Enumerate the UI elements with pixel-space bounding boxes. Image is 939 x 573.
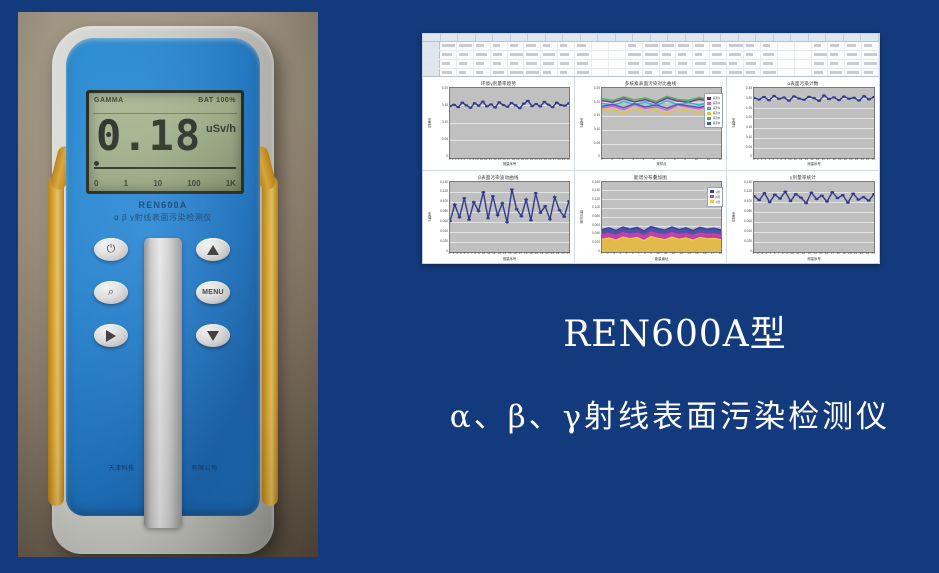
spreadsheet-cell[interactable] xyxy=(524,60,541,68)
chart-x-tick: 4 xyxy=(765,251,767,255)
chart-x-tick: 3 xyxy=(622,157,624,161)
chart-data-point xyxy=(802,99,806,101)
chart-x-tick: 13 xyxy=(807,251,810,255)
spreadsheet-col-header[interactable] xyxy=(546,34,564,41)
spreadsheet-cell[interactable] xyxy=(643,69,660,77)
chart-data-point xyxy=(450,220,452,222)
chart-data-point xyxy=(846,201,850,203)
spreadsheet-col-header[interactable] xyxy=(686,34,704,41)
spreadsheet-cell[interactable] xyxy=(575,42,592,50)
chart-data-point xyxy=(792,95,796,97)
chart-x-tick: 3 xyxy=(613,251,615,255)
spreadsheet-cell[interactable] xyxy=(592,69,609,77)
spreadsheet-cell[interactable] xyxy=(845,69,862,77)
spreadsheet-cell[interactable] xyxy=(710,51,727,59)
spreadsheet-cell[interactable] xyxy=(524,42,541,50)
spreadsheet-cell[interactable] xyxy=(761,51,778,59)
spreadsheet-cell[interactable] xyxy=(795,69,812,77)
spreadsheet-cell[interactable] xyxy=(524,69,541,77)
chart-data-point xyxy=(538,105,542,107)
chart-y-ticks: 0.250.200.150.100.050 xyxy=(585,87,601,159)
spreadsheet-cell[interactable] xyxy=(440,69,457,77)
spreadsheet-cell[interactable] xyxy=(660,42,677,50)
spreadsheet-cell[interactable] xyxy=(727,51,744,59)
spreadsheet-cell[interactable] xyxy=(575,69,592,77)
chart-y-tick: 0.080 xyxy=(592,215,600,218)
chart-x-tick: 18 xyxy=(833,157,836,161)
spreadsheet-cell[interactable] xyxy=(626,60,643,68)
spreadsheet-col-header[interactable] xyxy=(581,34,599,41)
spreadsheet-col-header[interactable] xyxy=(633,34,651,41)
spreadsheet-cell[interactable] xyxy=(778,60,795,68)
spreadsheet-col-header[interactable] xyxy=(511,34,529,41)
chart-x-tick: 24 xyxy=(866,157,869,161)
chart-x-ticks: 1234567891011121314151617181920212223242… xyxy=(449,157,570,161)
spreadsheet-cell[interactable] xyxy=(626,69,643,77)
chart-data-point xyxy=(548,218,552,220)
chart-x-tick: 9 xyxy=(684,157,686,161)
spreadsheet-row-header[interactable] xyxy=(423,69,440,77)
chart-y-tick: 0 xyxy=(446,155,448,158)
spreadsheet-row[interactable] xyxy=(423,51,879,60)
chart-legend-item[interactable]: β谱 xyxy=(710,195,720,199)
chart-data-point xyxy=(787,100,791,102)
chart-y-axis-label: 计数率 xyxy=(579,118,585,128)
spreadsheet-col-header[interactable] xyxy=(668,34,686,41)
spreadsheet-cell[interactable] xyxy=(845,51,862,59)
spreadsheet-cell[interactable] xyxy=(609,60,626,68)
chart-y-tick: 0.020 xyxy=(440,240,448,243)
chart-data-point xyxy=(519,215,523,217)
spreadsheet-cell[interactable] xyxy=(693,60,710,68)
chart-data-point xyxy=(827,98,831,100)
spreadsheet-cell[interactable] xyxy=(828,42,845,50)
chart-x-tick: 7 xyxy=(663,157,665,161)
spreadsheet-column-headers xyxy=(423,34,879,42)
chart-series-svg xyxy=(754,182,874,253)
spreadsheet-col-header[interactable] xyxy=(861,34,879,41)
spreadsheet-cell[interactable] xyxy=(693,42,710,50)
chart-data-point xyxy=(496,214,500,216)
spreadsheet-cell[interactable] xyxy=(457,69,474,77)
chart-data-point xyxy=(481,190,485,192)
spreadsheet-cell[interactable] xyxy=(778,51,795,59)
spreadsheet-cell[interactable] xyxy=(710,42,727,50)
spreadsheet-col-header[interactable] xyxy=(616,34,634,41)
spreadsheet-row-header[interactable] xyxy=(423,42,440,50)
chart-y-tick: 0.25 xyxy=(746,107,752,110)
spreadsheet-cell[interactable] xyxy=(795,60,812,68)
spreadsheet-col-header[interactable] xyxy=(739,34,757,41)
chart-x-tick: 15 xyxy=(819,251,822,255)
chart-data-point xyxy=(485,105,489,107)
chart-data-point xyxy=(777,98,781,100)
spreadsheet-col-header[interactable] xyxy=(809,34,827,41)
spreadsheet-cell[interactable] xyxy=(558,51,575,59)
chart-x-tick: 12 xyxy=(672,251,675,255)
chart-legend-swatch xyxy=(707,107,711,110)
chart-legend-item[interactable]: 系列4 xyxy=(707,111,720,115)
spreadsheet-cell[interactable] xyxy=(727,69,744,77)
spreadsheet-row-header[interactable] xyxy=(423,60,440,68)
spreadsheet-cell[interactable] xyxy=(609,69,626,77)
spreadsheet-cell[interactable] xyxy=(474,42,491,50)
chart-x-tick: 22 xyxy=(530,157,533,161)
chart-y-tick: 0.20 xyxy=(594,101,600,104)
chart-x-ticks: 1234567891011121314151617181920212223242… xyxy=(449,251,570,255)
spreadsheet-cell[interactable] xyxy=(440,42,457,50)
spreadsheet-cell[interactable] xyxy=(609,51,626,59)
spreadsheet-cell[interactable] xyxy=(508,60,525,68)
spreadsheet-cell[interactable] xyxy=(626,42,643,50)
chart-data-point xyxy=(836,196,840,198)
chart-data-point xyxy=(472,201,476,203)
spreadsheet-cell[interactable] xyxy=(524,51,541,59)
chart-data-point xyxy=(551,106,555,108)
spreadsheet-cell[interactable] xyxy=(440,51,457,59)
chart-x-tick: 2 xyxy=(611,157,613,161)
spreadsheet-cell[interactable] xyxy=(491,69,508,77)
chart-x-tick: 30 xyxy=(567,157,570,161)
chart-x-tick: 2 xyxy=(607,251,609,255)
spreadsheet-cell[interactable] xyxy=(541,42,558,50)
chart-data-point xyxy=(768,201,772,203)
spreadsheet-cell[interactable] xyxy=(457,42,474,50)
spreadsheet-cell[interactable] xyxy=(727,60,744,68)
chart-x-tick: 3 xyxy=(761,251,763,255)
chart-x-tick: 15 xyxy=(816,157,819,161)
product-photo: GAMMA BAT 100% 0.18 uSv/h 0 1 10 100 1K xyxy=(18,12,318,557)
spreadsheet-cell[interactable] xyxy=(761,69,778,77)
spreadsheet-cell[interactable] xyxy=(744,60,761,68)
chart-x-ticks: 123456789101112 xyxy=(601,157,722,161)
spreadsheet-cell[interactable] xyxy=(558,42,575,50)
chart-x-tick: 7 xyxy=(471,251,473,255)
chart-data-point xyxy=(822,94,826,96)
chart-plot xyxy=(753,87,875,159)
chart-x-tick: 19 xyxy=(529,251,532,255)
spreadsheet-cell[interactable] xyxy=(541,51,558,59)
spreadsheet-cell[interactable] xyxy=(457,60,474,68)
chart-data-point xyxy=(453,203,457,205)
spreadsheet-col-header[interactable] xyxy=(721,34,739,41)
spreadsheet-cell[interactable] xyxy=(710,69,727,77)
chart-x-tick: 13 xyxy=(497,251,500,255)
spreadsheet-col-header[interactable] xyxy=(423,34,441,41)
spreadsheet-cell[interactable] xyxy=(812,60,829,68)
chart-data-point xyxy=(767,99,771,101)
chart-x-tick: 4 xyxy=(619,251,621,255)
chart-x-tick: 8 xyxy=(674,157,676,161)
chart-x-tick: 1 xyxy=(601,251,603,255)
spreadsheet-row[interactable] xyxy=(423,69,879,77)
chart-y-tick: 0.15 xyxy=(442,104,448,107)
chart-y-tick: 0.15 xyxy=(746,126,752,129)
spreadsheet-cell[interactable] xyxy=(693,69,710,77)
chart-x-tick: 1 xyxy=(753,157,755,161)
chart-legend-swatch xyxy=(707,122,711,125)
chart-x-tick: 2 xyxy=(757,157,759,161)
chart-data-point xyxy=(473,102,477,104)
chart-legend-item[interactable]: α谱 xyxy=(710,200,720,204)
spreadsheet-col-header[interactable] xyxy=(458,34,476,41)
spreadsheet-cell[interactable] xyxy=(676,69,693,77)
chart-x-tick: 12 xyxy=(802,251,805,255)
spreadsheet-cell[interactable] xyxy=(795,51,812,59)
chart-x-tick: 10 xyxy=(482,251,485,255)
spreadsheet-cell[interactable] xyxy=(626,51,643,59)
chart-y-tick: 0.080 xyxy=(440,210,448,213)
chart-y-tick: 0.020 xyxy=(744,240,752,243)
chart-y-tick: 0.100 xyxy=(440,200,448,203)
chart-legend-label: 系列4 xyxy=(713,111,720,115)
spreadsheet-col-header[interactable] xyxy=(651,34,669,41)
chart-y-axis-label: 剂量率 xyxy=(731,212,737,222)
chart-y-tick: 0.060 xyxy=(744,220,752,223)
chart-x-tick: 7 xyxy=(776,157,778,161)
chart-data-point xyxy=(773,193,777,195)
spreadsheet-cell[interactable] xyxy=(592,42,609,50)
chart-y-tick: 0.120 xyxy=(440,190,448,193)
spreadsheet-cell[interactable] xyxy=(508,69,525,77)
spreadsheet-cell[interactable] xyxy=(744,51,761,59)
spreadsheet-cell[interactable] xyxy=(575,60,592,68)
chart-y-tick: 0.060 xyxy=(592,224,600,227)
chart-x-axis: 123456789101112采样点 xyxy=(601,157,722,166)
spreadsheet-row[interactable] xyxy=(423,60,879,69)
spreadsheet-cell[interactable] xyxy=(761,60,778,68)
spreadsheet-col-header[interactable] xyxy=(563,34,581,41)
spreadsheet-cell[interactable] xyxy=(862,69,879,77)
spreadsheet-cell[interactable] xyxy=(812,42,829,50)
chart-x-tick: 18 xyxy=(512,157,515,161)
chart-y-tick: 0.10 xyxy=(746,136,752,139)
chart-legend: 系列1系列2系列3系列4系列5系列6 xyxy=(704,93,723,128)
chart-data-point xyxy=(847,98,851,100)
chart-y-tick: 0.040 xyxy=(592,232,600,235)
spreadsheet-col-header[interactable] xyxy=(476,34,494,41)
chart-plot-area: 剂量率0.200.150.100.050 xyxy=(427,87,570,159)
chart-legend-item[interactable]: 系列2 xyxy=(707,101,720,105)
spreadsheet-cell[interactable] xyxy=(778,69,795,77)
chart-plot xyxy=(449,181,570,254)
chart-plot xyxy=(449,87,570,159)
chart-x-tick: 6 xyxy=(653,157,655,161)
spreadsheet-cell[interactable] xyxy=(676,60,693,68)
spreadsheet-col-header[interactable] xyxy=(844,34,862,41)
chart-data-point xyxy=(510,188,514,190)
chart-line xyxy=(602,105,721,111)
spreadsheet-cell[interactable] xyxy=(491,60,508,68)
spreadsheet-cell[interactable] xyxy=(643,51,660,59)
spreadsheet-cell[interactable] xyxy=(491,42,508,50)
chart-y-tick: 0.020 xyxy=(592,241,600,244)
spreadsheet-col-header[interactable] xyxy=(598,34,616,41)
chart-x-tick: 24 xyxy=(556,251,559,255)
chart-data-point xyxy=(757,98,761,100)
chart-x-tick: 21 xyxy=(525,157,528,161)
spreadsheet-cell[interactable] xyxy=(862,51,879,59)
chart-data-point xyxy=(862,95,866,97)
chart-x-tick: 7 xyxy=(778,251,780,255)
spreadsheet-col-header[interactable] xyxy=(756,34,774,41)
spreadsheet-col-header[interactable] xyxy=(493,34,511,41)
chart-x-tick: 25 xyxy=(544,157,547,161)
chart-title: 环境γ剂量率趋势 xyxy=(427,80,570,87)
chart-x-tick: 15 xyxy=(508,251,511,255)
chart-legend-swatch xyxy=(707,97,711,100)
chart-x-tick: 2 xyxy=(757,251,759,255)
spreadsheet-cell[interactable] xyxy=(558,69,575,77)
spreadsheet-cell[interactable] xyxy=(508,51,525,59)
chart-cell: β表面污染波动曲线计数率0.1400.1200.1000.0800.0600.0… xyxy=(423,171,575,265)
spreadsheet-cell[interactable] xyxy=(676,51,693,59)
spreadsheet-cell[interactable] xyxy=(828,51,845,59)
spreadsheet-cell[interactable] xyxy=(575,51,592,59)
spreadsheet-cell[interactable] xyxy=(795,42,812,50)
chart-legend-item[interactable]: 系列1 xyxy=(707,96,720,100)
spreadsheet-col-header[interactable] xyxy=(441,34,459,41)
spreadsheet-cell[interactable] xyxy=(643,60,660,68)
spreadsheet-col-header[interactable] xyxy=(791,34,809,41)
chart-legend-swatch xyxy=(710,190,714,193)
spreadsheet-cell[interactable] xyxy=(440,60,457,68)
spreadsheet-cell[interactable] xyxy=(845,42,862,50)
chart-title: γ剂量率统计 xyxy=(731,174,875,181)
chart-data-point xyxy=(489,103,493,105)
spreadsheet-cell[interactable] xyxy=(592,51,609,59)
chart-cell: α表面污染计数计数率0.350.300.250.200.150.100.0501… xyxy=(727,77,879,171)
chart-y-tick: 0.35 xyxy=(746,87,752,90)
chart-data-point xyxy=(515,208,519,210)
chart-data-point xyxy=(809,191,813,193)
chart-data-point xyxy=(567,200,569,202)
spreadsheet-cell[interactable] xyxy=(660,60,677,68)
spreadsheet-cell[interactable] xyxy=(744,69,761,77)
chart-data-point xyxy=(812,97,816,99)
chart-data-point xyxy=(460,101,464,103)
spreadsheet-cell[interactable] xyxy=(457,51,474,59)
spreadsheet-cell[interactable] xyxy=(710,60,727,68)
spreadsheet-cell[interactable] xyxy=(474,51,491,59)
chart-data-point xyxy=(841,193,845,195)
spreadsheet-rows xyxy=(423,42,879,77)
chart-legend-label: γ谱 xyxy=(716,190,720,194)
chart-x-tick: 16 xyxy=(821,157,824,161)
chart-y-tick: 0.20 xyxy=(746,116,752,119)
spreadsheet-cell[interactable] xyxy=(693,51,710,59)
chart-series-svg xyxy=(450,88,569,158)
spreadsheet-cell[interactable] xyxy=(491,51,508,59)
chart-y-tick: 0.140 xyxy=(592,189,600,192)
chart-x-tick: 11 xyxy=(794,157,797,161)
chart-grid: 环境γ剂量率趋势剂量率0.200.150.100.050123456789101… xyxy=(423,77,879,264)
chart-x-tick: 11 xyxy=(664,251,667,255)
spreadsheet-col-header[interactable] xyxy=(774,34,792,41)
chart-plot-area: 剂量率0.1400.1200.1000.0800.0600.0400.0200 xyxy=(731,181,875,254)
spreadsheet-cell[interactable] xyxy=(676,42,693,50)
chart-x-tick: 10 xyxy=(656,251,659,255)
chart-x-tick: 16 xyxy=(513,251,516,255)
chart-x-axis-label: 测量序号 xyxy=(449,256,570,261)
spreadsheet-cell[interactable] xyxy=(761,42,778,50)
spreadsheet-cell[interactable] xyxy=(862,42,879,50)
spreadsheet-cell[interactable] xyxy=(812,51,829,59)
spreadsheet-cell[interactable] xyxy=(643,42,660,50)
chart-legend-label: α谱 xyxy=(716,200,720,204)
spreadsheet-cell[interactable] xyxy=(828,60,845,68)
spreadsheet-cell[interactable] xyxy=(845,60,862,68)
spreadsheet-cell[interactable] xyxy=(862,60,879,68)
spreadsheet-cell[interactable] xyxy=(812,69,829,77)
spreadsheet-cell[interactable] xyxy=(474,69,491,77)
spreadsheet-row-header[interactable] xyxy=(423,51,440,59)
chart-x-tick: 23 xyxy=(534,157,537,161)
chart-legend-item[interactable]: γ谱 xyxy=(710,190,720,194)
chart-data-point xyxy=(518,107,522,109)
chart-x-tick: 3 xyxy=(455,157,457,161)
chart-x-tick: 17 xyxy=(507,157,510,161)
chart-data-point xyxy=(852,97,856,99)
chart-x-tick: 13 xyxy=(805,157,808,161)
chart-data-point xyxy=(782,96,786,98)
spreadsheet-cell[interactable] xyxy=(541,69,558,77)
chart-legend-item[interactable]: 系列5 xyxy=(707,116,720,120)
chart-data-point xyxy=(481,100,485,102)
chart-x-tick: 5 xyxy=(770,251,772,255)
chart-data-point xyxy=(842,95,846,97)
chart-x-tick: 5 xyxy=(643,157,645,161)
spreadsheet-cell[interactable] xyxy=(558,60,575,68)
spreadsheet-row[interactable] xyxy=(423,42,879,51)
spreadsheet-cell[interactable] xyxy=(744,42,761,50)
chart-x-tick: 4 xyxy=(460,251,462,255)
chart-x-tick: 23 xyxy=(866,251,869,255)
spreadsheet-cell[interactable] xyxy=(778,42,795,50)
spreadsheet-col-header[interactable] xyxy=(528,34,546,41)
spreadsheet-cell[interactable] xyxy=(609,42,626,50)
chart-x-tick: 3 xyxy=(456,251,458,255)
chart-cell: γ剂量率统计剂量率0.1400.1200.1000.0800.0600.0400… xyxy=(727,171,879,265)
chart-title: β表面污染波动曲线 xyxy=(427,174,570,181)
spreadsheet-cell[interactable] xyxy=(474,60,491,68)
spreadsheet-cell[interactable] xyxy=(508,42,525,50)
chart-data-point xyxy=(529,219,533,221)
chart-y-axis: 计数率0.1400.1200.1000.0800.0600.0400.0200 xyxy=(427,181,449,254)
spreadsheet-col-header[interactable] xyxy=(704,34,722,41)
spreadsheet-cell[interactable] xyxy=(541,60,558,68)
spreadsheet-col-header[interactable] xyxy=(826,34,844,41)
chart-data-point xyxy=(763,191,767,193)
chart-data-point xyxy=(851,192,855,194)
spreadsheet-cell[interactable] xyxy=(727,42,744,50)
chart-title: 多核素表面污染对比曲线 xyxy=(579,80,722,87)
spreadsheet-cell[interactable] xyxy=(660,51,677,59)
spreadsheet-cell[interactable] xyxy=(660,69,677,77)
chart-data-point xyxy=(772,95,776,97)
spreadsheet-cell[interactable] xyxy=(592,60,609,68)
chart-x-tick: 14 xyxy=(813,251,816,255)
chart-data-point xyxy=(555,101,559,103)
chart-legend-item[interactable]: 系列3 xyxy=(707,106,720,110)
chart-line xyxy=(754,191,874,203)
spreadsheet-cell[interactable] xyxy=(828,69,845,77)
chart-legend-item[interactable]: 系列6 xyxy=(707,121,720,125)
chart-x-tick: 22 xyxy=(855,157,858,161)
chart-legend-label: 系列1 xyxy=(713,96,720,100)
chart-data-point xyxy=(830,190,834,192)
chart-x-tick: 8 xyxy=(474,251,476,255)
